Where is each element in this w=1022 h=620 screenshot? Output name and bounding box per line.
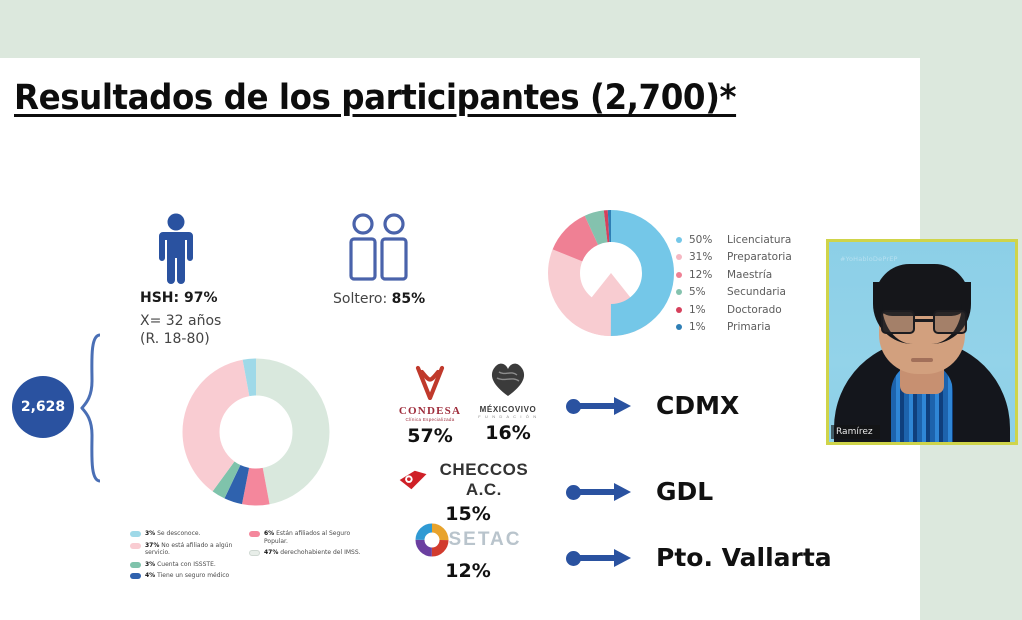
city-label: CDMX	[656, 391, 739, 420]
glasses-bridge-icon	[915, 319, 933, 322]
legend-value: 1%	[689, 304, 727, 316]
organization-name: CONDESA	[392, 405, 468, 417]
arrow-right-icon	[566, 548, 634, 568]
slide-bottom-strip	[0, 580, 920, 620]
video-background-hashtag: #YoHabloDePrEP	[840, 255, 898, 263]
age-range-label: (R. 18-80)	[140, 331, 210, 347]
health-affiliation-donut-chart	[182, 358, 330, 506]
legend-swatch-icon	[676, 289, 682, 295]
legend-swatch-icon	[249, 550, 260, 556]
legend-swatch-icon	[130, 531, 141, 537]
organization-condesa: CONDESA Clínica Especializada 57%	[392, 358, 468, 447]
legend-value: 37%	[145, 542, 159, 549]
legend-item: 1% Primaria	[676, 319, 792, 337]
organization-percentage: 16%	[470, 422, 546, 444]
organization-percentage: 57%	[392, 425, 468, 447]
presentation-slide: Resultados de los participantes (2,700)*…	[0, 58, 920, 580]
legend-swatch-icon	[249, 531, 260, 537]
legend-text: Están afiliados al Seguro Popular.	[264, 530, 350, 545]
legend-item: 6% Están afiliados al Seguro Popular.	[249, 530, 368, 545]
two-persons-icon	[348, 213, 410, 290]
legend-text: No está afiliado a algún servicio.	[145, 542, 232, 557]
legend-label: 3% Se desconoce.	[145, 530, 200, 538]
setac-ring-icon	[415, 523, 449, 557]
legend-label: 6% Están afiliados al Seguro Popular.	[264, 530, 368, 545]
legend-swatch-icon	[676, 272, 682, 278]
legend-label: Primaria	[727, 321, 771, 333]
legend-value: 3%	[145, 561, 155, 568]
legend-value: 1%	[689, 321, 727, 333]
organization-checcos: CHECCOS A.C. 15%	[398, 460, 538, 525]
organization-percentage: 12%	[398, 560, 538, 582]
hsh-stat-label: HSH: 97%	[140, 290, 218, 306]
legend-item: 31% Preparatoria	[676, 249, 792, 267]
legend-item: 1% Doctorado	[676, 301, 792, 319]
legend-item: 37% No está afiliado a algún servicio.	[130, 542, 249, 557]
legend-value: 12%	[689, 269, 727, 281]
legend-swatch-icon	[676, 307, 682, 313]
legend-item: 47% derechohabiente del IMSS.	[249, 549, 368, 557]
marital-stat-label: Soltero: 85%	[333, 291, 425, 307]
legend-value: 31%	[689, 251, 727, 263]
legend-item: 3% Se desconoce.	[130, 530, 249, 538]
ribbon-icon	[410, 358, 450, 400]
city-row-cdmx: CDMX	[566, 391, 739, 420]
organization-setac: SETAC 12%	[398, 523, 538, 582]
organization-mexicovivo: MÉXICOVIVO F U N D A C I Ó N 16%	[470, 358, 546, 444]
age-mean-label: X= 32 años	[140, 313, 221, 329]
legend-swatch-icon	[130, 562, 141, 568]
legend-swatch-icon	[676, 324, 682, 330]
legend-item: 50% Licenciatura	[676, 231, 792, 249]
legend-value: 47%	[264, 549, 278, 556]
city-label: GDL	[656, 477, 713, 506]
participant-name-label: Ramírez	[831, 425, 880, 439]
person-icon	[155, 213, 197, 290]
arrow-right-icon	[566, 482, 634, 502]
organization-subtitle: Clínica Especializada	[392, 417, 468, 422]
page-title: Resultados de los participantes (2,700)*	[14, 78, 736, 118]
screen: Resultados de los participantes (2,700)*…	[0, 0, 1022, 620]
organization-percentage: 15%	[398, 503, 538, 525]
video-feed: #YoHabloDePrEP Ramírez	[829, 242, 1015, 442]
organization-name: MÉXICOVIVO	[470, 405, 546, 414]
glasses-left-lens-icon	[881, 310, 915, 334]
organization-name: SETAC	[449, 529, 522, 551]
organization-name: CHECCOS A.C.	[430, 460, 538, 500]
checcos-icon	[398, 467, 430, 493]
legend-value: 50%	[689, 234, 727, 246]
legend-text: Cuenta con ISSSTE.	[157, 561, 216, 568]
legend-swatch-icon	[676, 254, 682, 260]
glasses-right-lens-icon	[933, 310, 967, 334]
marital-pct: 85%	[392, 291, 426, 307]
legend-value: 5%	[689, 286, 727, 298]
legend-text: derechohabiente del IMSS.	[280, 549, 360, 556]
legend-swatch-icon	[676, 237, 682, 243]
legend-item: 5% Secundaria	[676, 284, 792, 302]
city-row-gdl: GDL	[566, 477, 713, 506]
legend-label: 3% Cuenta con ISSSTE.	[145, 561, 216, 569]
status-badge: 2,628	[12, 376, 74, 438]
legend-label: 47% derechohabiente del IMSS.	[264, 549, 361, 557]
education-legend: 50% Licenciatura 31% Preparatoria 12% Ma…	[676, 231, 792, 336]
legend-label: Doctorado	[727, 304, 782, 316]
legend-value: 4%	[145, 572, 155, 579]
legend-label: Licenciatura	[727, 234, 791, 246]
person-mouth	[911, 358, 933, 362]
legend-value: 3%	[145, 530, 155, 537]
education-donut-chart	[548, 210, 674, 336]
legend-value: 6%	[264, 530, 274, 537]
legend-swatch-icon	[130, 573, 141, 579]
legend-label: Secundaria	[727, 286, 786, 298]
arrow-right-icon	[566, 396, 634, 416]
legend-label: Maestría	[727, 269, 772, 281]
legend-label: 37% No está afiliado a algún servicio.	[145, 542, 249, 557]
video-participant-tile[interactable]: #YoHabloDePrEP Ramírez	[826, 239, 1018, 445]
brace-decoration	[80, 333, 106, 483]
organization-subtitle: F U N D A C I Ó N	[470, 414, 546, 419]
city-row-puerto-vallarta: Pto. Vallarta	[566, 543, 832, 572]
legend-item: 12% Maestría	[676, 266, 792, 284]
heart-icon	[487, 358, 529, 400]
legend-text: Se desconoce.	[157, 530, 200, 537]
legend-swatch-icon	[130, 543, 141, 549]
city-label: Pto. Vallarta	[656, 543, 832, 572]
legend-label: Preparatoria	[727, 251, 792, 263]
legend-item: 3% Cuenta con ISSSTE.	[130, 561, 249, 569]
